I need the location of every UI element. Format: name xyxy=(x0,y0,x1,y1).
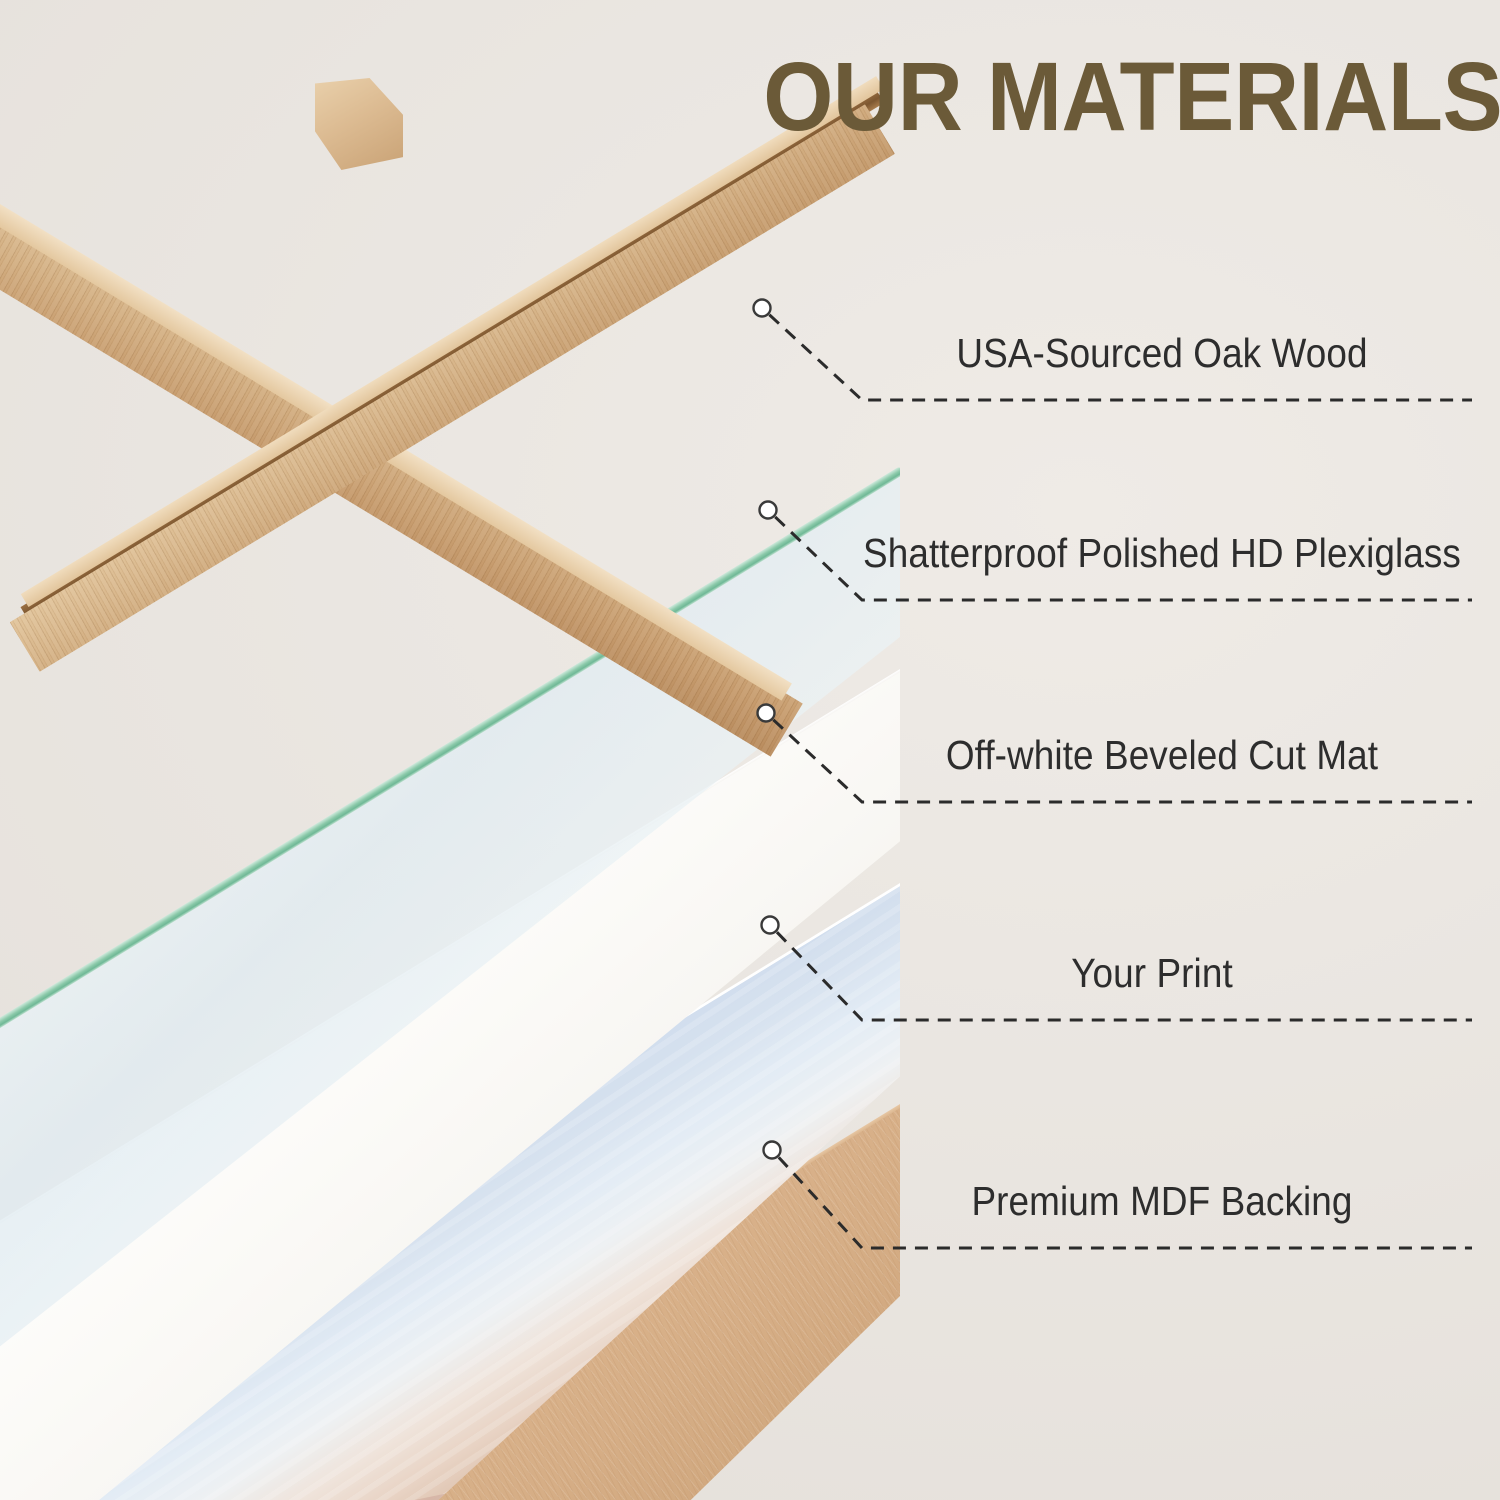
page-title: OUR MATERIALS xyxy=(763,48,1470,145)
callout-label-plexiglass: Shatterproof Polished HD Plexiglass xyxy=(863,530,1461,577)
callout-label-mdf-backing: Premium MDF Backing xyxy=(971,1178,1352,1225)
exploded-frame-illustration xyxy=(0,0,900,1500)
callout-label-oak-wood: USA-Sourced Oak Wood xyxy=(956,330,1367,377)
callout-label-print: Your Print xyxy=(1071,950,1233,997)
frame-miter-corner xyxy=(315,78,403,170)
callout-label-mat: Off-white Beveled Cut Mat xyxy=(946,732,1378,779)
frame-top-rail xyxy=(10,104,895,672)
materials-infographic: OUR MATERIALS USA-Sourced Oak Wood Shatt… xyxy=(0,0,1500,1500)
